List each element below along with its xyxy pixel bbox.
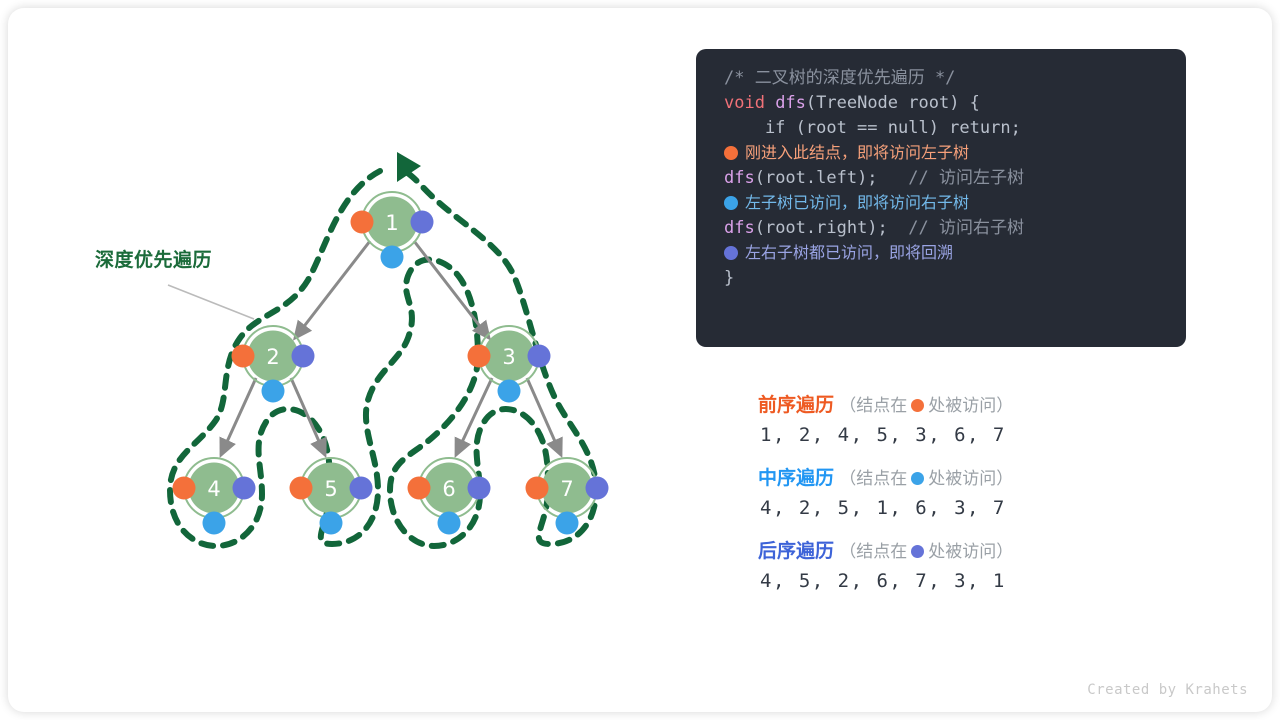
pre-order-dot	[408, 477, 431, 500]
in-order-dot	[498, 380, 521, 403]
function-name-dfs: dfs	[724, 218, 755, 238]
code-line-call-right: dfs(root.right); // 访问右子树	[696, 216, 1186, 241]
credit-text: Created by Krahets	[1087, 682, 1248, 698]
code-line-comment: /* 二叉树的深度优先遍历 */	[696, 66, 1186, 91]
postorder-paren-before: （结点在	[839, 542, 907, 561]
function-name-dfs: dfs	[765, 93, 806, 113]
function-name-dfs: dfs	[724, 168, 755, 188]
pre-order-dot	[724, 146, 738, 160]
post-order-dot	[233, 477, 256, 500]
post-order-dot	[292, 345, 315, 368]
tree-node-1[interactable]: 1	[351, 192, 434, 269]
pre-order-dot	[911, 399, 924, 412]
pre-order-dot	[526, 477, 549, 500]
in-order-dot	[438, 512, 461, 535]
inorder-heading: 中序遍历 （结点在处被访问）	[758, 466, 1198, 492]
tree-node-4[interactable]: 4	[173, 458, 256, 535]
figure-card: 1 2 3	[8, 8, 1272, 712]
pre-order-dot	[173, 477, 196, 500]
signature-rest: (TreeNode root) {	[806, 93, 980, 113]
inorder-paren-before: （结点在	[839, 469, 907, 488]
in-order-dot	[381, 246, 404, 269]
pre-order-dot	[232, 345, 255, 368]
post-order-dot	[528, 345, 551, 368]
inorder-paren-after: 处被访问）	[928, 469, 1013, 488]
in-order-dot	[724, 196, 738, 210]
pre-order-dot	[468, 345, 491, 368]
code-line-note-postorder: 左右子树都已访问，即将回溯	[696, 241, 1186, 266]
preorder-heading: 前序遍历 （结点在处被访问）	[758, 393, 1198, 419]
closing-brace: }	[724, 268, 734, 288]
post-order-dot	[586, 477, 609, 500]
code-line-signature: void dfs(TreeNode root) {	[696, 91, 1186, 116]
pre-order-dot	[351, 211, 374, 234]
comment-right-subtree: // 访问右子树	[908, 218, 1024, 238]
in-order-dot	[262, 380, 285, 403]
comment-left-subtree: // 访问左子树	[908, 168, 1024, 188]
node-label: 4	[207, 477, 220, 501]
traversal-results: 前序遍历 （结点在处被访问） 1, 2, 4, 5, 3, 6, 7 中序遍历 …	[758, 393, 1198, 612]
call-left-args: (root.left);	[755, 168, 878, 188]
in-order-dot	[556, 512, 579, 535]
call-right-args: (root.right);	[755, 218, 888, 238]
preorder-paren-before: （结点在	[839, 396, 907, 415]
nullcheck-text: if (root == null) return;	[724, 118, 1021, 138]
post-order-dot	[468, 477, 491, 500]
in-order-dot	[911, 472, 924, 485]
note-inorder-text: 左子树已访问，即将访问右子树	[745, 195, 969, 212]
node-label: 3	[502, 345, 515, 369]
node-label: 6	[442, 477, 455, 501]
postorder-sequence: 4, 5, 2, 6, 7, 3, 1	[760, 570, 1198, 592]
callout-leader-line	[168, 285, 254, 319]
call-left-comment	[878, 168, 909, 188]
call-right-spacer	[888, 218, 908, 238]
in-order-dot	[320, 512, 343, 535]
dfs-callout-label: 深度优先遍历	[95, 245, 212, 272]
preorder-paren-after: 处被访问）	[928, 396, 1013, 415]
preorder-sequence: 1, 2, 4, 5, 3, 6, 7	[760, 424, 1198, 446]
code-line-note-inorder: 左子树已访问，即将访问右子树	[696, 191, 1186, 216]
tree-svg: 1 2 3	[8, 8, 668, 712]
code-line-nullcheck: if (root == null) return;	[696, 116, 1186, 141]
note-postorder-text: 左右子树都已访问，即将回溯	[745, 245, 953, 262]
comment-text: /* 二叉树的深度优先遍历 */	[724, 68, 955, 88]
post-order-dot	[350, 477, 373, 500]
note-preorder-text: 刚进入此结点，即将访问左子树	[745, 145, 969, 162]
pre-order-dot	[290, 477, 313, 500]
keyword-void: void	[724, 93, 765, 113]
binary-tree-diagram: 1 2 3	[8, 8, 668, 712]
postorder-paren-after: 处被访问）	[928, 542, 1013, 561]
inorder-label: 中序遍历	[758, 468, 834, 489]
in-order-dot	[203, 512, 226, 535]
code-line-note-preorder: 刚进入此结点，即将访问左子树	[696, 141, 1186, 166]
post-order-dot	[911, 545, 924, 558]
node-label: 7	[560, 477, 573, 501]
postorder-label: 后序遍历	[758, 541, 834, 562]
postorder-heading: 后序遍历 （结点在处被访问）	[758, 539, 1198, 565]
tree-node-5[interactable]: 5	[290, 458, 373, 535]
code-block: /* 二叉树的深度优先遍历 */ void dfs(TreeNode root)…	[696, 49, 1186, 347]
code-line-closing-brace: }	[696, 266, 1186, 291]
post-order-dot	[724, 246, 738, 260]
post-order-dot	[411, 211, 434, 234]
preorder-label: 前序遍历	[758, 395, 834, 416]
inorder-sequence: 4, 2, 5, 1, 6, 3, 7	[760, 497, 1198, 519]
node-label: 5	[324, 477, 337, 501]
node-label: 1	[385, 211, 398, 235]
node-label: 2	[266, 345, 279, 369]
code-line-call-left: dfs(root.left); // 访问左子树	[696, 166, 1186, 191]
